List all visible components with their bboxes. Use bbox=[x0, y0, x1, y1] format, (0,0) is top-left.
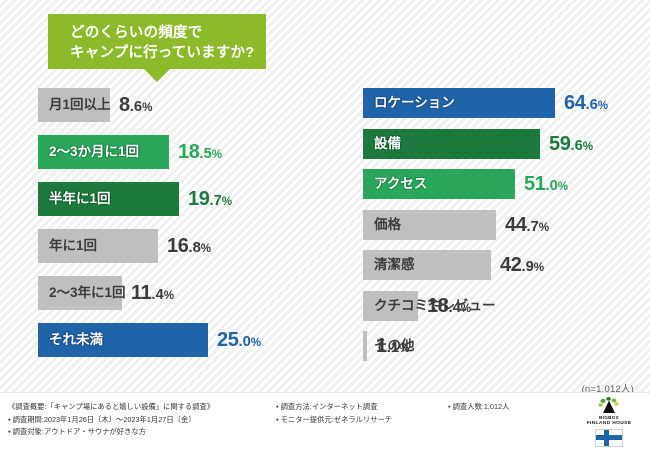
bar-category-label: 設備 bbox=[363, 137, 401, 151]
bar-segment: クチコミやレビュー bbox=[363, 291, 418, 321]
left-bar-rows: 月1回以上8.6%2〜3か月に1回18.5%半年に1回19.7%年に1回16.8… bbox=[0, 88, 363, 370]
bar-value-label: 8.6% bbox=[110, 95, 152, 115]
footer-survey-count: ▪ 調査人数:1,012人 bbox=[448, 401, 566, 439]
callout-tail-icon bbox=[144, 69, 170, 82]
left-header-line1: どのくらいの頻度で bbox=[70, 23, 266, 43]
bar-row: 年に1回16.8% bbox=[38, 229, 363, 263]
value-percent-sign: % bbox=[534, 261, 544, 274]
bar-value-label: 51.0% bbox=[515, 174, 568, 194]
value-integer: 11 bbox=[131, 282, 151, 304]
bar-value-label: 18.4% bbox=[418, 296, 471, 316]
value-percent-sign: % bbox=[201, 242, 211, 255]
logo-brand-sub: FINLAND HOUSE bbox=[578, 421, 640, 427]
value-integer: 59 bbox=[549, 133, 570, 155]
value-integer: 1 bbox=[376, 335, 387, 357]
bar-row: 設備59.6% bbox=[363, 129, 650, 159]
tree-logo-icon bbox=[594, 397, 624, 414]
bar-category-label: 清潔感 bbox=[363, 258, 415, 272]
bar-value-label: 1.1% bbox=[367, 336, 409, 356]
footer-method-line: ▪ モニター提供元:ゼネラルリサーチ bbox=[276, 414, 448, 427]
bar-value-label: 64.6% bbox=[555, 93, 608, 113]
value-percent-sign: % bbox=[222, 195, 232, 208]
right-bar-rows: ロケーション64.6%設備59.6%アクセス51.0%価格44.7%清潔感42.… bbox=[325, 88, 650, 372]
right-chart-panel: キャンプ場を選ぶ際に重視する ポイントを教えてください(複数回答可) ロケーショ… bbox=[325, 0, 650, 393]
bar-value-label: 16.8% bbox=[158, 236, 211, 256]
bar-row: 半年に1回19.7% bbox=[38, 182, 363, 216]
bar-category-label: 半年に1回 bbox=[38, 192, 111, 206]
footer-overview-line: ▪ 調査期間:2023年1月26日〔木〕〜2023年1月27日〔金〕 bbox=[8, 414, 276, 427]
bar-category-label: ロケーション bbox=[363, 96, 455, 110]
value-percent-sign: % bbox=[598, 99, 608, 112]
value-integer: 18 bbox=[427, 295, 448, 317]
value-decimal: .5 bbox=[199, 146, 211, 162]
value-decimal: .7 bbox=[209, 193, 221, 209]
value-percent-sign: % bbox=[399, 342, 409, 355]
bar-segment: 2〜3年に1回 bbox=[38, 276, 122, 310]
bar-row: 清潔感42.9% bbox=[363, 250, 650, 280]
bar-row: クチコミやレビュー18.4% bbox=[363, 291, 650, 321]
bar-segment: 清潔感 bbox=[363, 250, 491, 280]
bar-row: 月1回以上8.6% bbox=[38, 88, 363, 122]
value-percent-sign: % bbox=[583, 140, 593, 153]
value-integer: 42 bbox=[500, 254, 521, 276]
value-decimal: .4 bbox=[448, 300, 460, 316]
bar-category-label: 2〜3か月に1回 bbox=[38, 145, 139, 159]
footer-overview-line: ▪ 調査対象:アウトドア・サウナが好きな方 bbox=[8, 426, 276, 439]
bar-segment: 半年に1回 bbox=[38, 182, 179, 216]
brand-logo: BIGBOX FINLAND HOUSE bbox=[578, 397, 640, 447]
left-header-line2: キャンプに行っていますか? bbox=[70, 43, 266, 63]
bar-value-label: 59.6% bbox=[540, 134, 593, 154]
finland-flag-icon bbox=[595, 429, 623, 447]
value-integer: 51 bbox=[524, 173, 545, 195]
bar-row: ロケーション64.6% bbox=[363, 88, 650, 118]
bar-row: それ未満25.0% bbox=[38, 323, 363, 357]
value-decimal: .6 bbox=[585, 97, 597, 113]
value-percent-sign: % bbox=[461, 302, 471, 315]
bar-segment: それ未満 bbox=[38, 323, 208, 357]
bar-value-label: 25.0% bbox=[208, 330, 261, 350]
left-panel-header: どのくらいの頻度で キャンプに行っていますか? bbox=[48, 14, 266, 69]
value-integer: 44 bbox=[505, 214, 526, 236]
footer-survey-method: ▪ 調査方法:インターネット調査▪ モニター提供元:ゼネラルリサーチ bbox=[276, 401, 448, 439]
bar-category-label: 価格 bbox=[363, 218, 401, 232]
bar-value-label: 19.7% bbox=[179, 189, 232, 209]
bar-segment: 月1回以上 bbox=[38, 88, 110, 122]
value-percent-sign: % bbox=[142, 101, 152, 114]
bar-value-label: 44.7% bbox=[496, 215, 549, 235]
value-decimal: .0 bbox=[545, 178, 557, 194]
footer: 《調査概要:「キャンプ場にあると嬉しい設備」に関する調査》▪ 調査期間:2023… bbox=[0, 392, 650, 450]
value-decimal: .4 bbox=[151, 287, 163, 303]
value-percent-sign: % bbox=[558, 180, 568, 193]
bar-row: 2〜3か月に1回18.5% bbox=[38, 135, 363, 169]
value-percent-sign: % bbox=[251, 336, 261, 349]
footer-method-line: ▪ 調査方法:インターネット調査 bbox=[276, 401, 448, 414]
left-chart-panel: どのくらいの頻度で キャンプに行っていますか? 月1回以上8.6%2〜3か月に1… bbox=[0, 0, 325, 393]
bar-row: 価格44.7% bbox=[363, 210, 650, 240]
bar-segment: アクセス bbox=[363, 169, 515, 199]
bar-category-label: アクセス bbox=[363, 177, 427, 191]
value-percent-sign: % bbox=[539, 221, 549, 234]
bar-value-label: 18.5% bbox=[169, 142, 222, 162]
value-decimal: .6 bbox=[570, 138, 582, 154]
bar-value-label: 11.4% bbox=[122, 283, 174, 303]
footer-count-line: ▪ 調査人数:1,012人 bbox=[448, 401, 566, 414]
value-percent-sign: % bbox=[164, 289, 174, 302]
value-integer: 8 bbox=[119, 94, 130, 116]
value-decimal: .0 bbox=[238, 334, 250, 350]
value-decimal: .1 bbox=[387, 340, 399, 356]
bar-category-label: 月1回以上 bbox=[38, 98, 111, 112]
footer-overview-line: 《調査概要:「キャンプ場にあると嬉しい設備」に関する調査》 bbox=[8, 401, 276, 414]
value-percent-sign: % bbox=[212, 148, 222, 161]
value-integer: 18 bbox=[178, 141, 199, 163]
value-decimal: .6 bbox=[130, 99, 142, 115]
bar-category-label: 2〜3年に1回 bbox=[38, 286, 126, 300]
value-decimal: .8 bbox=[188, 240, 200, 256]
bar-value-label: 42.9% bbox=[491, 255, 544, 275]
value-integer: 16 bbox=[167, 235, 188, 257]
bar-segment: ロケーション bbox=[363, 88, 555, 118]
value-decimal: .7 bbox=[526, 219, 538, 235]
footer-survey-overview: 《調査概要:「キャンプ場にあると嬉しい設備」に関する調査》▪ 調査期間:2023… bbox=[8, 401, 276, 439]
value-decimal: .9 bbox=[521, 259, 533, 275]
bar-segment: 価格 bbox=[363, 210, 496, 240]
bar-segment: 2〜3か月に1回 bbox=[38, 135, 169, 169]
bar-row: その他1.1% bbox=[363, 331, 650, 361]
value-integer: 25 bbox=[217, 329, 238, 351]
infographic-canvas: どのくらいの頻度で キャンプに行っていますか? 月1回以上8.6%2〜3か月に1… bbox=[0, 0, 650, 450]
bar-segment: 設備 bbox=[363, 129, 540, 159]
value-integer: 19 bbox=[188, 188, 209, 210]
bar-row: アクセス51.0% bbox=[363, 169, 650, 199]
bar-category-label: 年に1回 bbox=[38, 239, 97, 253]
value-integer: 64 bbox=[564, 92, 585, 114]
bar-segment: 年に1回 bbox=[38, 229, 158, 263]
bar-category-label: それ未満 bbox=[38, 333, 103, 347]
bar-row: 2〜3年に1回11.4% bbox=[38, 276, 363, 310]
